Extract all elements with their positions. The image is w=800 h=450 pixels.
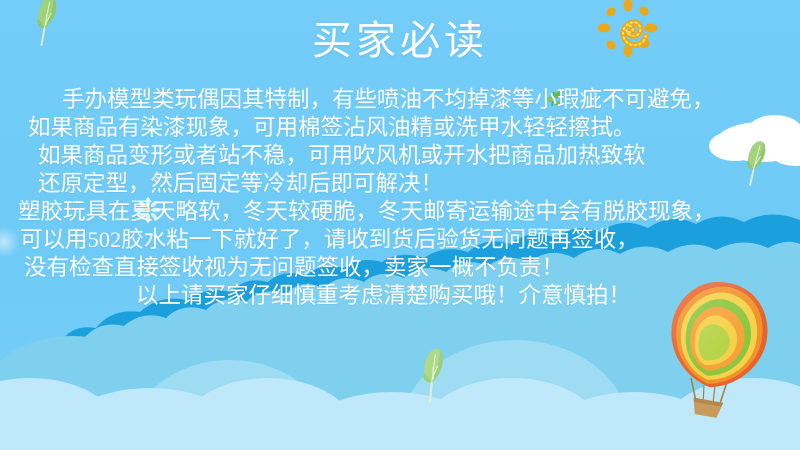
body-text-block: 手办模型类玩偶因其特制，有些喷油不均掉漆等小瑕疵不可避免， 如果商品有染漆现象，…	[0, 86, 800, 310]
body-line-5: 塑胶玩具在夏天略软，冬天较硬脆，冬天邮寄运输途中会有脱胶现象，	[0, 198, 800, 226]
body-line-2: 如果商品有染漆现象，可用棉签沾风油精或洗甲水轻轻擦拭。	[0, 114, 800, 142]
body-line-6: 可以用502胶水粘一下就好了，请收到货后验货无问题再签收，	[0, 226, 800, 254]
body-line-1: 手办模型类玩偶因其特制，有些喷油不均掉漆等小瑕疵不可避免，	[0, 86, 800, 114]
body-line-7: 没有检查直接签收视为无问题签收，卖家一概不负责！	[0, 254, 800, 282]
body-line-4: 还原定型，然后固定等冷却后即可解决！	[0, 170, 800, 198]
body-line-8: 以上请买家仔细慎重考虑清楚购买哦！介意慎拍！	[0, 282, 800, 310]
poster-canvas: 买家必读 手办模型类玩偶因其特制，有些喷油不均掉漆等小瑕疵不可避免， 如果商品有…	[0, 0, 800, 450]
text-content: 买家必读 手办模型类玩偶因其特制，有些喷油不均掉漆等小瑕疵不可避免， 如果商品有…	[0, 0, 800, 450]
body-line-3: 如果商品变形或者站不稳，可用吹风机或开水把商品加热致软	[0, 142, 800, 170]
page-title: 买家必读	[0, 18, 800, 64]
